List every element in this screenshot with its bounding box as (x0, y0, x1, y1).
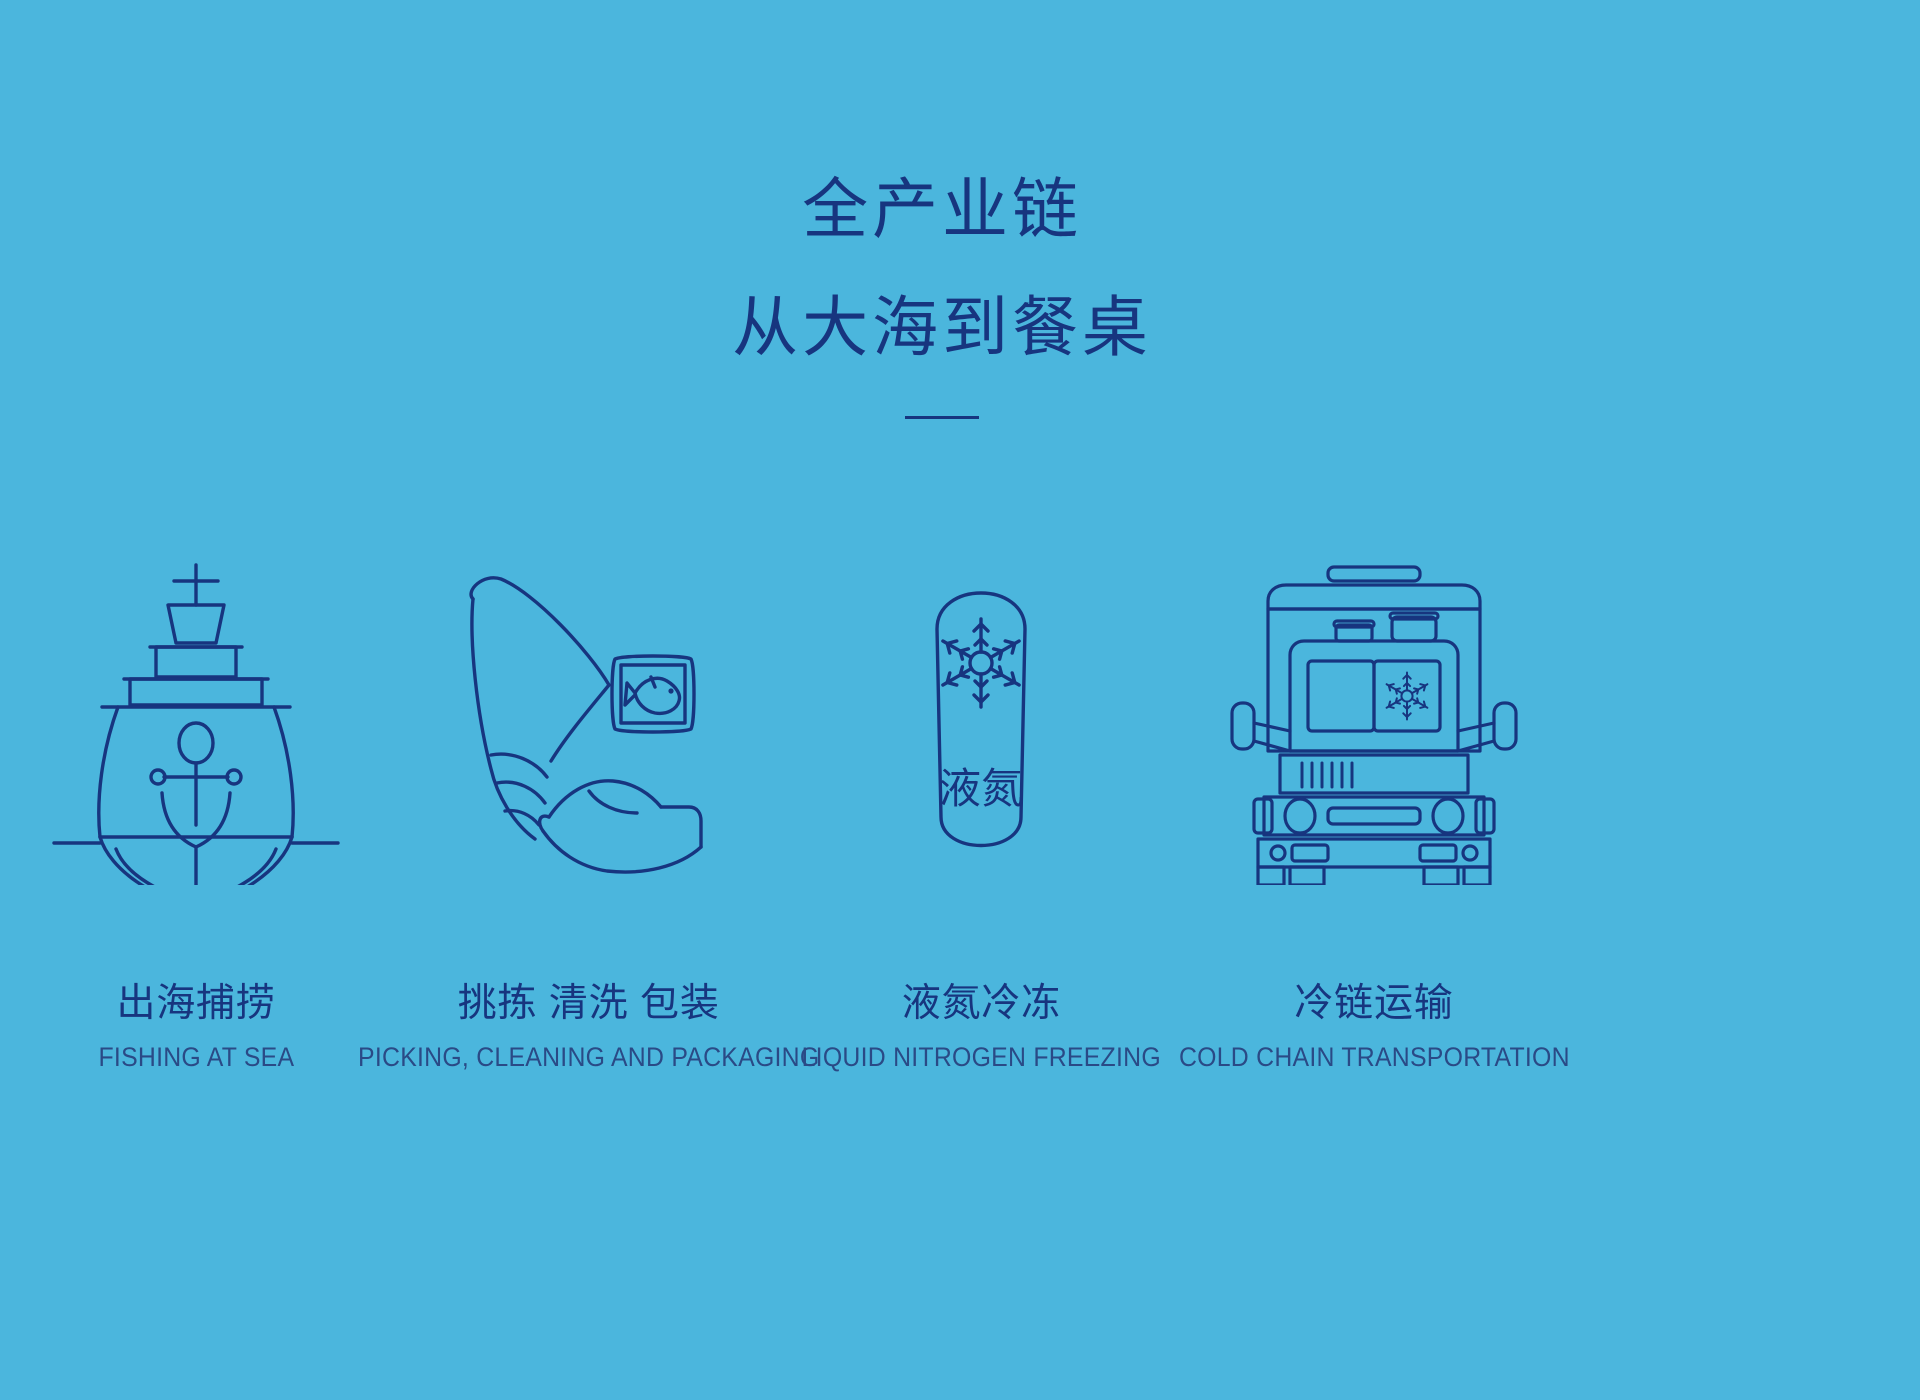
step-title-en: COLD CHAIN TRANSPORTATION (1179, 1043, 1570, 1073)
fishing-boat-with-anchor-icon (46, 520, 346, 920)
step-title-cn: 出海捕捞 (90, 982, 303, 1027)
process-step-picking-cleaning-packaging: 挑拣 清洗 包装 PICKING, CLEANING AND PACKAGING (393, 520, 785, 1073)
hands-with-packaged-fish-icon (439, 520, 739, 920)
liquid-nitrogen-tank-icon: 液氮 (831, 520, 1131, 920)
page-title-primary: 全产业链 (0, 178, 1902, 244)
step-caption: 冷链运输 COLD CHAIN TRANSPORTATION (1162, 982, 1587, 1073)
process-steps-row: 出海捕捞 FISHING AT SEA (0, 520, 1570, 1073)
step-caption: 出海捕捞 FISHING AT SEA (90, 982, 303, 1073)
step-title-en: FISHING AT SEA (98, 1043, 294, 1073)
step-caption: 液氮冷冻 LIQUID NITROGEN FREEZING (786, 982, 1177, 1073)
step-title-cn: 挑拣 清洗 包装 (338, 982, 839, 1027)
tank-label: 液氮 (939, 765, 1023, 812)
title-divider (905, 416, 979, 419)
process-step-cold-chain-transportation: 冷链运输 COLD CHAIN TRANSPORTATION (1178, 520, 1570, 1073)
process-step-fishing-at-sea: 出海捕捞 FISHING AT SEA (0, 520, 392, 1073)
refrigerated-truck-icon (1224, 520, 1524, 920)
header-block: 全产业链 从大海到餐桌 (0, 0, 1920, 419)
step-title-cn: 冷链运输 (1162, 982, 1587, 1027)
step-title-en: LIQUID NITROGEN FREEZING (802, 1043, 1161, 1073)
step-caption: 挑拣 清洗 包装 PICKING, CLEANING AND PACKAGING (338, 982, 839, 1073)
infographic-canvas: 全产业链 从大海到餐桌 (0, 0, 1920, 1400)
step-title-en: PICKING, CLEANING AND PACKAGING (358, 1043, 819, 1073)
step-title-cn: 液氮冷冻 (786, 982, 1177, 1027)
page-title-secondary: 从大海到餐桌 (0, 296, 1902, 362)
process-step-liquid-nitrogen-freezing: 液氮 液氮冷冻 LIQUID NITROGEN FREEZING (785, 520, 1177, 1073)
